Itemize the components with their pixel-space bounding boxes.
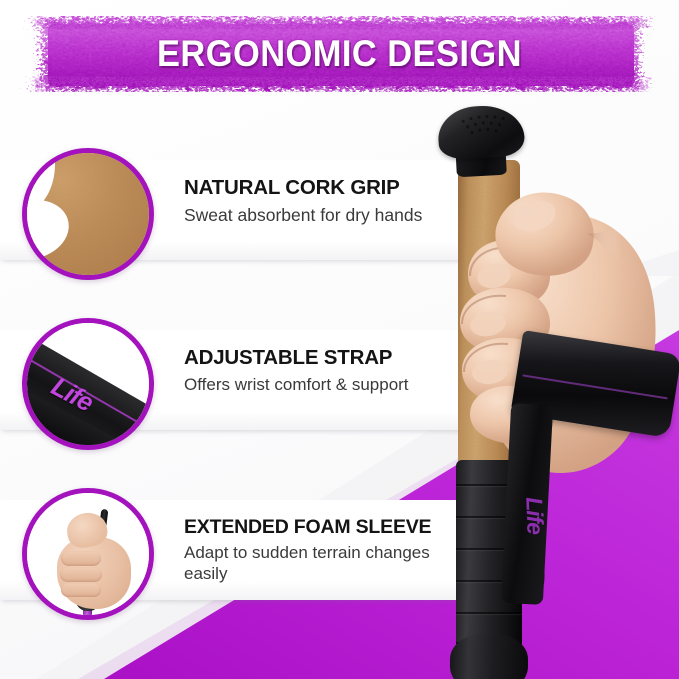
infographic-canvas: ERGONOMIC DESIGN: [0, 0, 679, 679]
cork-grip-image: [27, 153, 149, 275]
rubber-top-cap: [436, 103, 525, 161]
thumbnail-foam-sleeve[interactable]: [22, 488, 154, 620]
cap-texture-dots: [436, 103, 525, 161]
page-title: ERGONOMIC DESIGN: [39, 16, 641, 92]
thumbnail-adjustable-strap[interactable]: Life: [22, 318, 154, 450]
strap-image: Life: [27, 323, 149, 445]
foam-sleeve-end-bulb: [450, 634, 528, 679]
strap-seam-line: [522, 374, 668, 399]
hand-on-pole-image: [27, 493, 149, 615]
thumbnail-cork-grip[interactable]: [22, 148, 154, 280]
product-photo-hand-on-trekking-pole: Life: [398, 104, 679, 679]
header-banner: ERGONOMIC DESIGN: [16, 16, 663, 92]
product-brand-logo: Life: [520, 497, 548, 535]
